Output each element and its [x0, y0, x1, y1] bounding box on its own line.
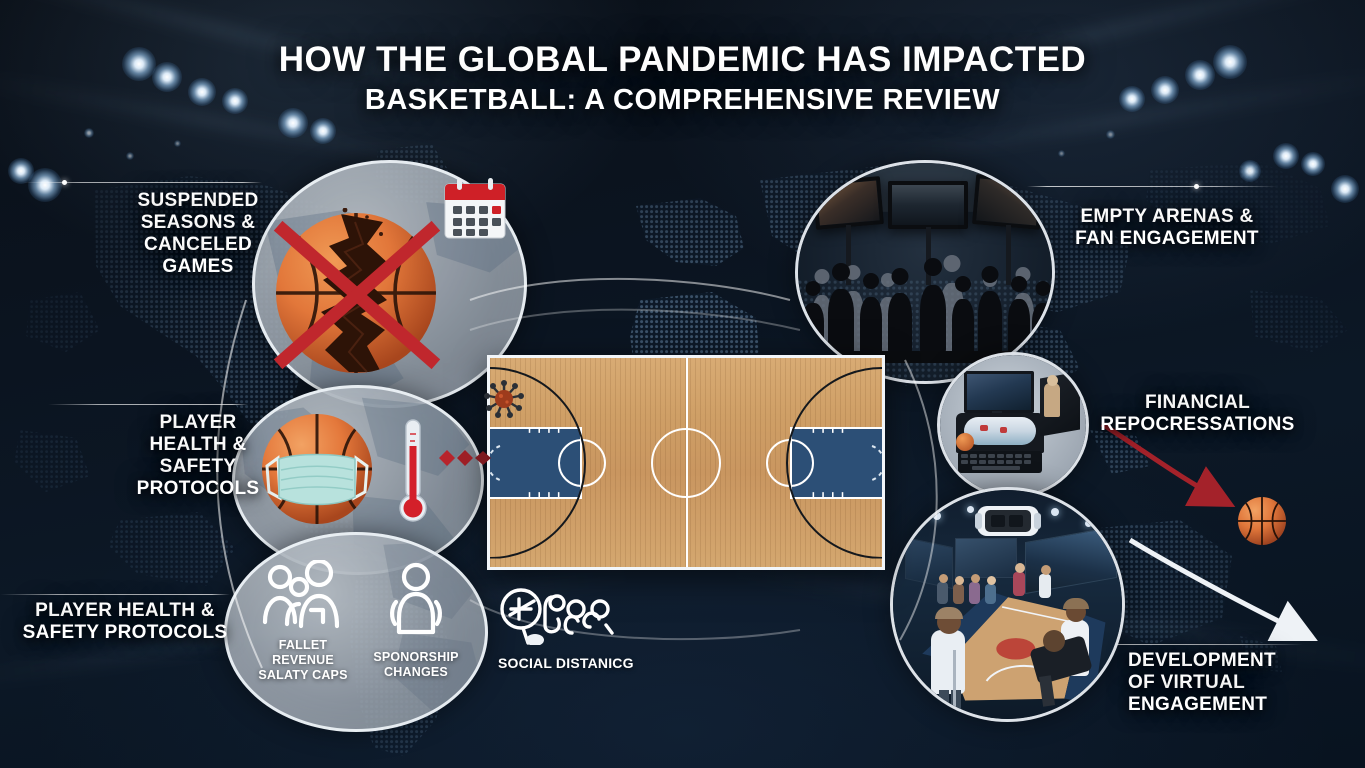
stadium-light: [8, 158, 34, 184]
people-group-icon: [261, 560, 339, 632]
virus-icon: [484, 380, 524, 418]
stadium-light: [1106, 130, 1115, 139]
label-virtual-engagement: DEVELOPMENT OF VIRTUAL ENGAGEMENT: [1128, 650, 1353, 716]
stadium-light: [1239, 160, 1261, 182]
calendar-icon: [443, 178, 507, 240]
label-empty-arenas: EMPTY ARENAS & FAN ENGAGEMENT: [1062, 206, 1272, 250]
stadium-light: [1058, 150, 1065, 157]
person-icon: [383, 560, 449, 636]
title-line-1: HOW THE GLOBAL PANDEMIC HAS IMPACTED: [0, 40, 1365, 80]
vr-headset-icon: [975, 500, 1041, 540]
caption-social-distancing: SOCIAL DISTANICG: [498, 655, 658, 672]
stadium-light: [174, 140, 181, 147]
caption-sponsorship: SPONORSHIP CHANGES: [360, 650, 472, 680]
stadium-light: [1273, 143, 1299, 169]
empty-arenas-bubble: [795, 160, 1055, 384]
stadium-light: [28, 168, 62, 202]
broken-basketball-icon: [263, 208, 449, 378]
label-player-health-bottom: PLAYER HEALTH & SAFETY PROTOCOLS: [12, 600, 238, 644]
stadium-light: [1301, 152, 1325, 176]
thermometer-icon: [398, 418, 428, 526]
label-player-health-top: PLAYER HEALTH & SAFETY PROTOCOLS: [118, 412, 278, 500]
title-line-2: BASKETBALL: A COMPREHENSIVE REVIEW: [0, 83, 1365, 118]
label-financial: FINANCIAL REPOCRESSATIONS: [1095, 392, 1300, 436]
crowd-silhouette-icon: [798, 263, 1052, 363]
connector-rail-left-bottom: [0, 594, 230, 595]
tv-screen: [812, 176, 884, 230]
infographic-canvas: HOW THE GLOBAL PANDEMIC HAS IMPACTED BAS…: [0, 0, 1365, 768]
tv-screen: [888, 181, 968, 229]
stadium-light: [310, 118, 336, 144]
social-distancing-icon: [500, 583, 618, 645]
court-center-circle: [651, 428, 721, 498]
label-suspended-seasons: SUSPENDED SEASONS & CANCELED GAMES: [108, 190, 288, 278]
connector-rail-right-top: [1027, 186, 1277, 187]
stadium-light: [1331, 175, 1359, 203]
stadium-light: [126, 152, 134, 160]
computer-workstation-icon: [940, 355, 1086, 495]
connector-rail-left-mid: [48, 404, 248, 405]
connector-rail-left-top: [22, 182, 262, 183]
red-marker-icon: [437, 448, 493, 468]
page-title: HOW THE GLOBAL PANDEMIC HAS IMPACTED BAS…: [0, 40, 1365, 118]
tv-screen: [972, 174, 1044, 230]
caption-fallen-revenue: FALLET REVENUE SALATY CAPS: [250, 638, 356, 683]
basketball-court: [487, 355, 885, 570]
financial-workstation-bubble: [937, 352, 1089, 498]
basketball-icon: [1236, 495, 1288, 547]
stadium-light: [84, 128, 94, 138]
